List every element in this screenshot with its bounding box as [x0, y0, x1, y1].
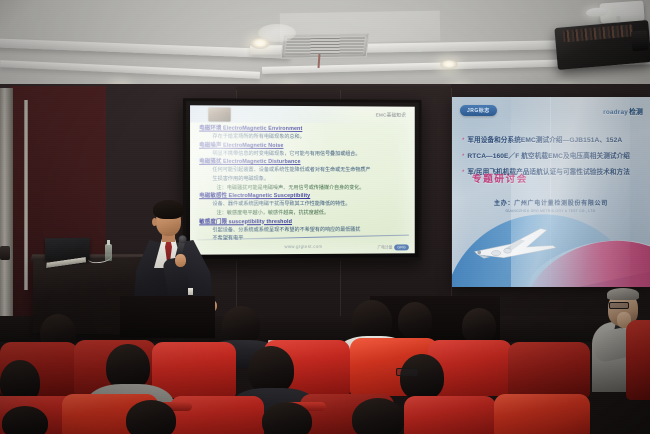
wall-pillar: [0, 88, 13, 324]
slide-line: 生损害作用的电磁现象。: [212, 176, 407, 182]
slide-line: 设备、器件或系统因电磁干扰而导致其工作性能降低的特性。: [212, 201, 407, 208]
lecture-hall-photo: EMC基础知识 电磁环境 ElectroMagnetic Environment…: [0, 0, 650, 434]
ceiling-projector: [554, 20, 650, 70]
equipment-box: [0, 246, 10, 260]
presenter-badge: [188, 288, 193, 295]
slide-line: 注：敏感度电平越小，敏感件越高，抗扰度越低。: [216, 210, 406, 217]
seat[interactable]: [494, 394, 590, 434]
slide-line: 敏感度门限 susceptibility threshold: [199, 218, 407, 225]
slide-line: 任何可能引起装置、设备或系统性能降低或者对有生命或无生命物质产: [212, 167, 407, 173]
banner-brand-logo: roadray检测: [603, 106, 643, 116]
banner-host: 主办：广州广电计量检测股份有限公司 GUANGZHOU GRG METROLOG…: [452, 198, 650, 213]
slide-header-title: EMC基础知识: [376, 112, 406, 118]
airplane-icon: [470, 223, 562, 271]
audience-head: [262, 402, 312, 434]
slide-line: 注：电磁骚扰可能是电磁噪声、无用信号或传播媒介自身的变化。: [216, 185, 406, 191]
audience-head: [352, 398, 404, 434]
slide-line: 存在于给定场所的所有电磁现象的总和。: [212, 134, 407, 141]
slide-header: EMC基础知识: [190, 105, 415, 123]
ceiling-speaker-icon: [258, 24, 296, 42]
seat[interactable]: [404, 396, 496, 434]
presentation-slide: EMC基础知识 电磁环境 ElectroMagnetic Environment…: [190, 105, 415, 254]
slide-line: 电磁噪声 ElectroMagnetic Noise: [199, 142, 407, 149]
wall-pillar-edge: [24, 100, 28, 290]
banner-bullet-text: 军用设备和分系统EMC测试介绍—GJB151A、152A: [467, 137, 622, 145]
slide-footer-brand: 广电计量: [377, 245, 392, 250]
slide-footer-logo: 广电计量 GRG: [377, 244, 408, 250]
eyeglasses-icon: [609, 302, 629, 309]
slide-line: 电磁敏感性 ElectroMagnetic Susceptibility: [199, 193, 407, 200]
banner-host-en: GUANGZHOU GRG METROLOGY & TEST CO., LTD.: [452, 209, 650, 213]
water-bottle: [105, 244, 112, 261]
ceiling-soffit: [0, 60, 260, 79]
seat[interactable]: [626, 320, 650, 400]
audience-head: [2, 406, 48, 434]
slide-line: 电磁骚扰 ElectroMagnetic Disturbance: [199, 159, 407, 166]
presenter-hand: [175, 254, 186, 267]
audience-member-elder-hair: [607, 288, 639, 300]
audience-head: [126, 400, 176, 434]
slide-header-thumbnail-icon: [208, 107, 230, 121]
audience-area: [0, 296, 650, 434]
aisle-shadow: [120, 296, 215, 338]
banner-bullet-item: * RTCA—160E／F 航空机载EMC及电压高相关测试介绍: [462, 153, 644, 161]
event-banner: JRG标志 roadray检测 * 军用设备和分系统EMC测试介绍—GJB151…: [452, 97, 650, 287]
ceiling-soffit: [0, 38, 290, 59]
audience-head: [462, 308, 496, 344]
audience-glasses-icon: [396, 368, 418, 376]
banner-host-cn: 主办：广州广电计量检测股份有限公司: [452, 198, 650, 207]
audience-head: [398, 302, 432, 338]
bullet-dot-icon: *: [462, 154, 464, 160]
ceiling: [0, 0, 650, 96]
slide-line: 明显不携带信息的时变电磁现象，它可能与有用信号叠加或组合。: [212, 151, 407, 158]
bullet-dot-icon: *: [462, 138, 464, 144]
audience-head: [400, 354, 444, 400]
banner-logo-badge: JRG标志: [460, 105, 497, 116]
banner-bullet-item: * 军用设备和分系统EMC测试介绍—GJB151A、152A: [462, 137, 644, 145]
slide-footer-url: www.grgtest.com: [285, 244, 323, 249]
presenter-hair: [153, 200, 184, 219]
banner-bullet-text: RTCA—160E／F 航空机载EMC及电压高相关测试介绍: [467, 153, 630, 161]
downlight-icon: [440, 60, 458, 69]
seat[interactable]: [508, 342, 590, 398]
banner-brand-cn: 检测: [629, 109, 643, 116]
presenter-ear: [152, 218, 157, 226]
audience-head: [248, 346, 294, 394]
banner-title: 专题研讨会: [472, 171, 528, 185]
banner-brand-en: roadray: [603, 109, 628, 116]
slide-body: 电磁环境 ElectroMagnetic Environment 存在于给定场所…: [199, 126, 407, 231]
bullet-dot-icon: *: [462, 170, 464, 176]
slide-line: 引起设备、分系统或系统呈现不希望的不希望有的响应的最低骚扰: [212, 226, 407, 233]
slide-line: 电磁环境 ElectroMagnetic Environment: [199, 126, 407, 134]
slide-footer-badge: GRG: [394, 244, 409, 250]
